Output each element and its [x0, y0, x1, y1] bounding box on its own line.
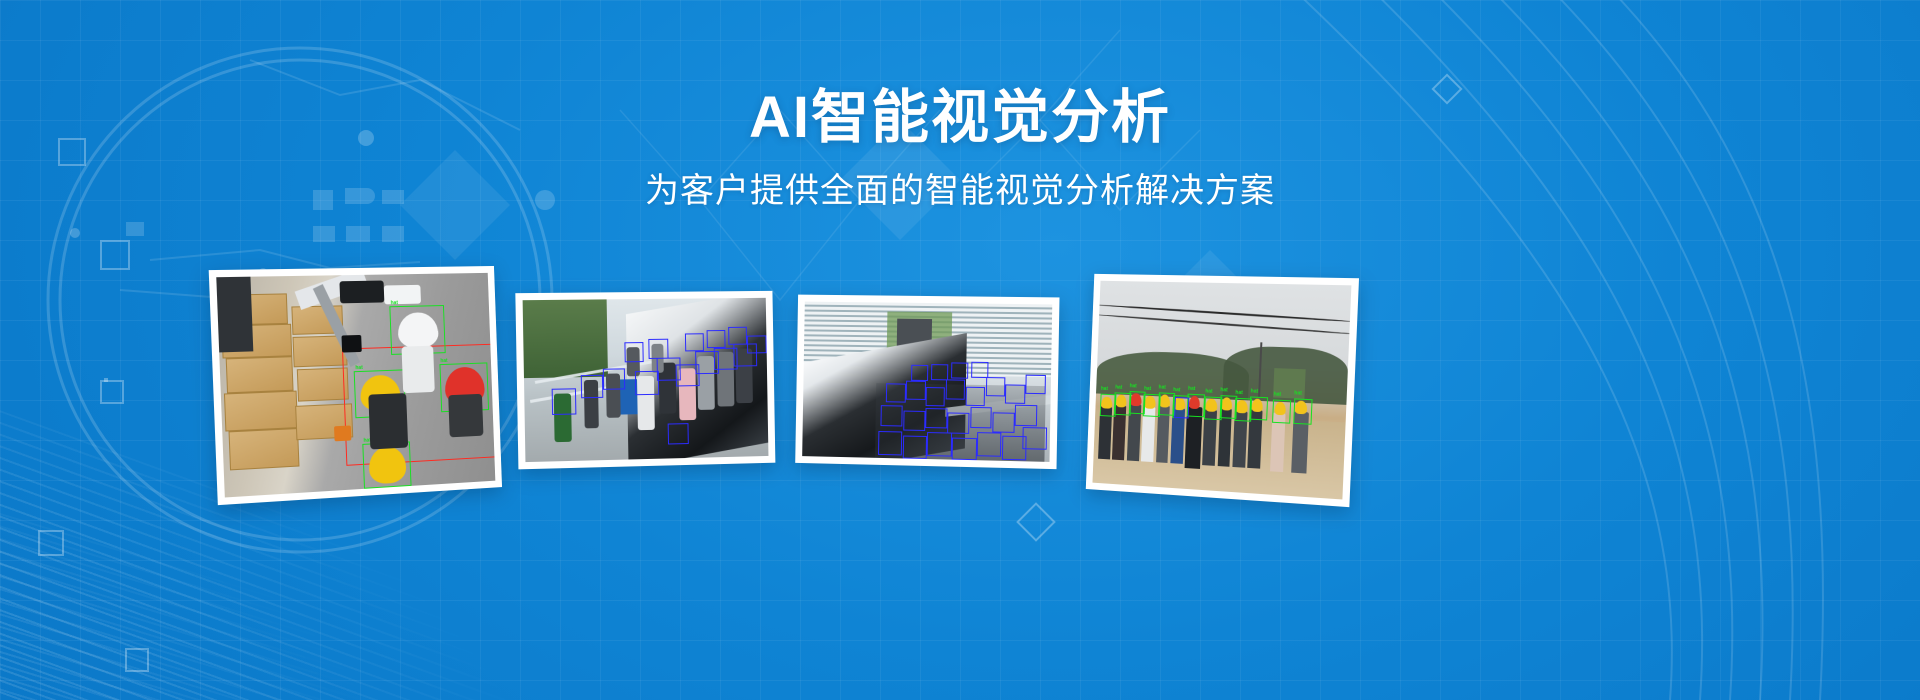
detection-label: hat — [1205, 390, 1213, 395]
photo-gallery: hat hat hat hat — [0, 258, 1920, 528]
detection-box — [881, 405, 903, 426]
scene-warehouse: hat hat hat hat — [216, 273, 495, 498]
detection-box — [925, 408, 947, 429]
scene-platform — [802, 302, 1052, 462]
detection-box — [1005, 384, 1025, 404]
detection-box — [707, 330, 726, 348]
detection-box — [1022, 427, 1047, 450]
detection-label: hat — [1101, 387, 1108, 392]
detection-box — [931, 364, 948, 380]
detection-box — [624, 342, 643, 362]
detection-box — [635, 371, 659, 396]
detection-label: hat — [1294, 391, 1302, 396]
detection-box — [902, 435, 927, 459]
detection-box — [551, 388, 576, 415]
detection-label: hat — [1144, 387, 1151, 392]
detection-box — [970, 407, 992, 428]
decor-filled-square-7 — [382, 226, 404, 242]
person — [369, 393, 408, 450]
ai-vision-banner: AI智能视觉分析 为客户提供全面的智能视觉分析解决方案 — [0, 0, 1920, 700]
detection-box — [992, 412, 1014, 433]
detection-box — [649, 339, 668, 359]
detection-label: hat — [1173, 388, 1180, 393]
detection-box — [946, 380, 966, 400]
detection-box — [927, 433, 952, 457]
photo-inner — [523, 298, 769, 462]
detection-box — [951, 363, 968, 379]
detection-box — [603, 368, 625, 390]
detection-box — [886, 383, 906, 402]
detection-box — [947, 413, 969, 434]
photo-inner: hat hat hat hat — [216, 273, 495, 498]
detection-box — [1025, 375, 1045, 395]
detection-label: hat — [1159, 385, 1166, 390]
detection-box — [977, 432, 1002, 456]
detection-box — [1249, 397, 1267, 421]
detection-label: hat — [1130, 384, 1137, 389]
shadow-shelf — [216, 277, 253, 353]
power-line — [1095, 304, 1352, 323]
detection-box — [685, 333, 704, 351]
decor-dot-2 — [70, 228, 80, 238]
detection-box — [878, 431, 903, 455]
person — [448, 394, 483, 437]
decor-square-5 — [125, 648, 149, 672]
banner-text: AI智能视觉分析 为客户提供全面的智能视觉分析解决方案 — [0, 0, 1920, 212]
carton — [228, 428, 299, 471]
detection-box — [911, 365, 928, 381]
scene-construction: hat hat hat hat hat hat hat hat — [1092, 281, 1351, 500]
detection-box — [1015, 405, 1037, 426]
decor-filled-square-6 — [346, 226, 370, 242]
decor-filled-square-5 — [313, 226, 335, 242]
detection-label: hat — [1220, 388, 1228, 393]
object — [342, 335, 362, 353]
object — [334, 425, 351, 441]
detection-box — [906, 381, 926, 400]
detection-box — [1272, 400, 1290, 424]
foliage — [523, 299, 608, 378]
gallery-photo-warehouse[interactable]: hat hat hat hat — [209, 266, 502, 505]
detection-label: hat — [440, 359, 447, 364]
decor-filled-square-1 — [126, 222, 144, 236]
detection-label: hat — [1188, 387, 1195, 392]
carton — [225, 356, 293, 393]
detection-box — [926, 387, 946, 407]
detection-label: hat — [1235, 391, 1243, 396]
detection-label: hat — [355, 366, 363, 371]
detection-box — [965, 386, 985, 406]
power-line — [1095, 313, 1352, 334]
detection-label: hat — [1251, 389, 1259, 394]
carton — [224, 391, 298, 431]
detection-box — [952, 438, 977, 461]
photo-inner — [802, 302, 1052, 462]
detection-box — [903, 410, 925, 431]
detection-box — [971, 361, 988, 377]
person — [402, 345, 435, 393]
photo-inner: hat hat hat hat hat hat hat hat — [1092, 281, 1351, 500]
scene-walkway — [523, 298, 769, 462]
equipment — [340, 281, 384, 303]
page-subtitle: 为客户提供全面的智能视觉分析解决方案 — [0, 149, 1920, 212]
detection-box — [985, 377, 1005, 397]
detection-label: hat — [1115, 386, 1122, 391]
gallery-photo-construction[interactable]: hat hat hat hat hat hat hat hat — [1086, 274, 1359, 507]
detection-box — [581, 375, 603, 398]
detection-label: hat — [1273, 393, 1281, 398]
detection-box — [667, 423, 689, 445]
detection-box-person — [1175, 398, 1190, 419]
carton — [296, 367, 349, 401]
detection-box — [747, 336, 766, 354]
gallery-photo-platform[interactable] — [795, 295, 1059, 470]
equipment — [383, 285, 421, 305]
page-title: AI智能视觉分析 — [0, 0, 1920, 149]
detection-box — [728, 327, 747, 345]
detection-box — [1293, 399, 1313, 425]
detection-label: hat — [391, 301, 398, 306]
gallery-photo-walkway[interactable] — [515, 291, 775, 470]
decor-square-4 — [38, 530, 64, 556]
